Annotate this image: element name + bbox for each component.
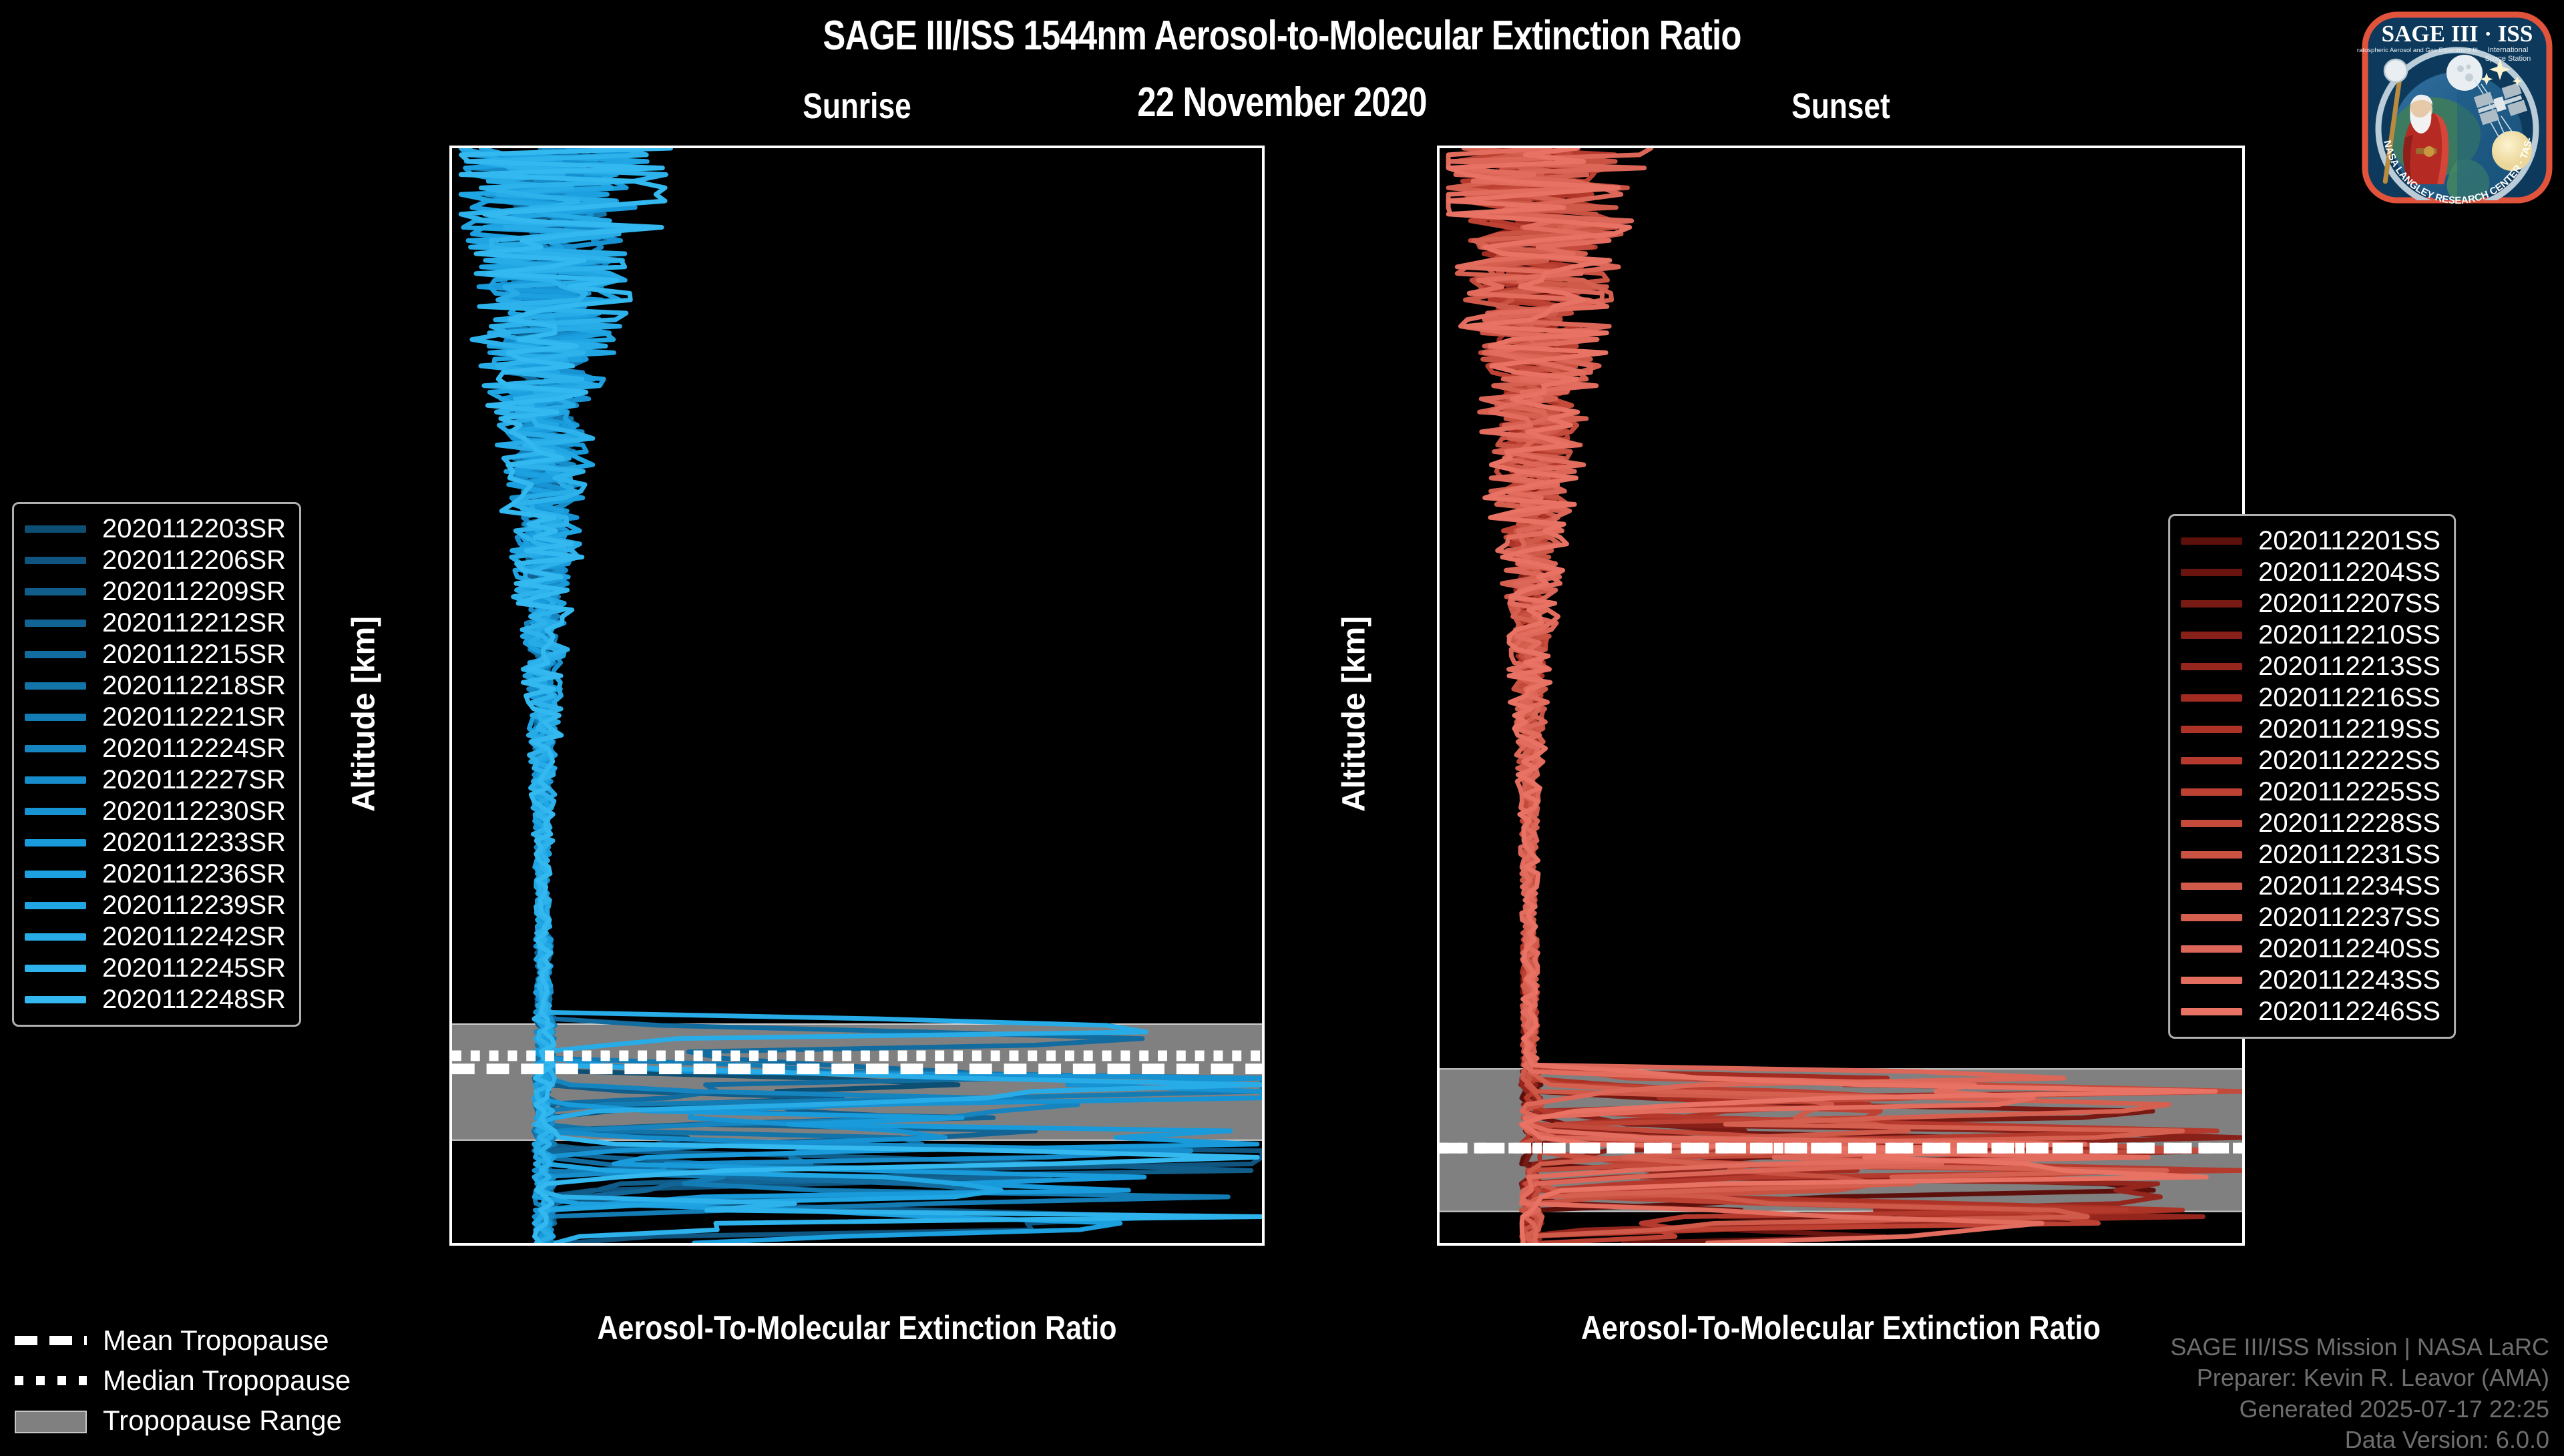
legend-color-swatch [2181, 945, 2242, 953]
y-axis-tick-mark [449, 280, 452, 282]
legend-label: 2020112204SS [2258, 557, 2440, 587]
x-axis-tick-mark [1113, 1243, 1116, 1246]
legend-label-median-tropopause: Median Tropopause [103, 1365, 351, 1397]
legend-row[interactable]: 2020112207SS [2181, 588, 2440, 620]
legend-color-swatch [2181, 883, 2242, 890]
legend-label: 2020112248SR [102, 985, 286, 1015]
legend-row[interactable]: 2020112221SR [25, 702, 286, 733]
filled-band-icon [15, 1413, 87, 1428]
legend-tropopause[interactable]: Mean Tropopause Median Tropopause Tropop… [15, 1320, 351, 1441]
legend-label: 2020112212SR [102, 608, 286, 638]
legend-row[interactable]: 2020112248SR [25, 984, 286, 1015]
legend-color-swatch [25, 902, 86, 909]
legend-color-swatch [25, 682, 86, 690]
legend-row[interactable]: 2020112225SS [2181, 776, 2440, 808]
y-axis-label-sunrise: Altitude [km] [346, 581, 383, 848]
legend-row[interactable]: 2020112215SR [25, 639, 286, 670]
legend-color-swatch [25, 620, 86, 627]
legend-label: 2020112231SS [2258, 840, 2440, 870]
legend-row[interactable]: 2020112234SS [2181, 871, 2440, 902]
y-axis-tick-mark [1437, 810, 1440, 812]
legend-color-swatch [2181, 820, 2242, 827]
legend-color-swatch [2181, 977, 2242, 984]
panel-title-sunset: Sunset [1510, 85, 2172, 127]
y-axis-tick-mark [1437, 942, 1440, 945]
legend-label: 2020112224SR [102, 734, 286, 764]
legend-row[interactable]: 2020112239SR [25, 890, 286, 921]
legend-label: 2020112213SS [2258, 652, 2440, 682]
legend-color-swatch [25, 525, 86, 533]
legend-row-median-tropopause[interactable]: Median Tropopause [15, 1361, 351, 1401]
legend-color-swatch [2181, 1008, 2242, 1015]
legend-row[interactable]: 2020112224SR [25, 733, 286, 764]
profile-lines-sunset [1440, 148, 2242, 1243]
sage-iii-iss-mission-patch-logo: SAGE III · ISS Stratospheric Aerosol and… [2357, 5, 2557, 206]
legend-label: 2020112221SR [102, 702, 286, 732]
legend-label: 2020112201SS [2258, 526, 2440, 556]
dotted-line-icon [15, 1373, 87, 1388]
legend-label: 2020112222SS [2258, 746, 2440, 776]
legend-label: 2020112216SS [2258, 683, 2440, 713]
legend-row[interactable]: 2020112203SR [25, 513, 286, 545]
y-axis-tick-mark [449, 677, 452, 680]
logo-title: SAGE III · ISS [2382, 21, 2533, 47]
plot-area-sunset[interactable]: 101520253035404550020406080100 [1437, 146, 2245, 1246]
legend-label-tropopause-range: Tropopause Range [103, 1405, 342, 1437]
y-axis-tick-mark [449, 810, 452, 812]
legend-color-swatch [2181, 632, 2242, 639]
x-axis-tick-mark [524, 1243, 527, 1246]
legend-row[interactable]: 2020112237SS [2181, 902, 2440, 933]
legend-label: 2020112233SR [102, 828, 286, 858]
legend-color-swatch [2181, 663, 2242, 670]
legend-color-swatch [25, 776, 86, 784]
y-axis-label-sunset: Altitude [km] [1336, 581, 1373, 848]
legend-label: 2020112246SS [2258, 997, 2440, 1027]
legend-row[interactable]: 2020112236SR [25, 859, 286, 890]
credits-line-mission: SAGE III/ISS Mission | NASA LaRC [2170, 1332, 2549, 1363]
legend-label: 2020112218SR [102, 671, 286, 701]
credits-line-generated: Generated 2025-07-17 22:25 [2170, 1394, 2549, 1425]
legend-row[interactable]: 2020112243SS [2181, 965, 2440, 996]
y-axis-tick-mark [1437, 677, 1440, 680]
legend-row[interactable]: 2020112227SR [25, 764, 286, 796]
x-axis-tick-mark [1657, 1243, 1660, 1246]
legend-label: 2020112225SS [2258, 777, 2440, 807]
legend-sunset[interactable]: 2020112201SS2020112204SS2020112207SS2020… [2168, 514, 2456, 1039]
x-axis-tick-mark [966, 1243, 969, 1246]
legend-sunrise[interactable]: 2020112203SR2020112206SR2020112209SR2020… [12, 502, 301, 1027]
y-axis-tick-mark [1437, 1207, 1440, 1210]
y-axis-tick-mark [449, 942, 452, 945]
y-axis-tick-mark [449, 147, 452, 150]
legend-label: 2020112227SR [102, 765, 286, 795]
legend-label: 2020112209SR [102, 577, 286, 607]
legend-row[interactable]: 2020112230SR [25, 796, 286, 827]
x-axis-tick-mark [819, 1243, 821, 1246]
legend-row[interactable]: 2020112218SR [25, 670, 286, 702]
y-axis-tick-mark [1437, 545, 1440, 547]
legend-label: 2020112239SR [102, 891, 286, 921]
legend-color-swatch [25, 839, 86, 846]
y-axis-tick-mark [1437, 412, 1440, 415]
legend-label: 2020112240SS [2258, 934, 2440, 964]
x-axis-tick-mark [1261, 1243, 1263, 1246]
legend-row-mean-tropopause[interactable]: Mean Tropopause [15, 1320, 351, 1361]
legend-color-swatch [2181, 726, 2242, 733]
y-axis-tick-mark [1437, 147, 1440, 150]
x-axis-tick-mark [1949, 1243, 1952, 1246]
plot-inner-sunset [1440, 148, 2242, 1243]
legend-color-swatch [2181, 851, 2242, 859]
dashed-line-icon [15, 1333, 87, 1348]
x-axis-label-sunset: Aerosol-To-Molecular Extinction Ratio [1494, 1308, 2189, 1347]
legend-row[interactable]: 2020112212SR [25, 608, 286, 639]
legend-color-swatch [2181, 600, 2242, 608]
legend-color-swatch [2181, 537, 2242, 545]
x-axis-tick-mark [2241, 1243, 2243, 1246]
legend-label: 2020112210SS [2258, 620, 2440, 650]
legend-row[interactable]: 2020112240SS [2181, 933, 2440, 965]
legend-label: 2020112234SS [2258, 871, 2440, 901]
legend-label: 2020112228SS [2258, 808, 2440, 838]
credits-line-data-version: Data Version: 6.0.0 [2170, 1425, 2549, 1455]
x-axis-tick-mark [1511, 1243, 1514, 1246]
y-axis-tick-mark [1437, 1075, 1440, 1077]
legend-color-swatch [25, 714, 86, 721]
legend-label: 2020112243SS [2258, 965, 2440, 995]
logo-subtitle-left: Stratospheric Aerosol and Gas Experiment… [2357, 47, 2478, 54]
legend-row[interactable]: 2020112206SR [25, 545, 286, 576]
legend-color-swatch [25, 588, 86, 595]
legend-label: 2020112237SS [2258, 903, 2440, 933]
legend-row[interactable]: 2020112209SR [25, 576, 286, 608]
legend-label: 2020112245SR [102, 953, 286, 983]
legend-row[interactable]: 2020112246SS [2181, 996, 2440, 1027]
legend-label: 2020112236SR [102, 859, 286, 889]
legend-row[interactable]: 2020112216SS [2181, 682, 2440, 714]
legend-color-swatch [25, 871, 86, 878]
mission-patch-icon: SAGE III · ISS Stratospheric Aerosol and… [2357, 5, 2557, 206]
legend-color-swatch [2181, 788, 2242, 796]
chart-title: SAGE III/ISS 1544nm Aerosol-to-Molecular… [231, 12, 2334, 59]
plot-area-sunrise[interactable]: 101520253035404550020406080100 [449, 146, 1265, 1246]
y-axis-tick-mark [449, 1075, 452, 1077]
profile-lines-sunrise [452, 148, 1262, 1243]
x-axis-tick-mark [2095, 1243, 2097, 1246]
legend-label: 2020112219SS [2258, 714, 2440, 744]
x-axis-label-sunrise: Aerosol-To-Molecular Extinction Ratio [506, 1308, 1207, 1347]
y-axis-tick-mark [449, 545, 452, 547]
x-axis-tick-mark [1803, 1243, 1805, 1246]
legend-color-swatch [25, 745, 86, 752]
legend-label-mean-tropopause: Mean Tropopause [103, 1324, 329, 1357]
legend-label: 2020112242SR [102, 922, 286, 952]
x-axis-tick-mark [672, 1243, 674, 1246]
legend-row[interactable]: 2020112213SS [2181, 651, 2440, 682]
legend-color-swatch [25, 557, 86, 564]
legend-color-swatch [25, 651, 86, 658]
logo-subtitle-right-line2: Space Station [2485, 55, 2531, 63]
legend-row[interactable]: 2020112222SS [2181, 745, 2440, 776]
legend-label: 2020112230SR [102, 796, 286, 826]
legend-row[interactable]: 2020112231SS [2181, 839, 2440, 871]
legend-row[interactable]: 2020112204SS [2181, 557, 2440, 588]
logo-subtitle-right-line1: International [2488, 46, 2529, 54]
legend-row[interactable]: 2020112242SR [25, 921, 286, 953]
y-axis-tick-mark [449, 1207, 452, 1210]
legend-color-swatch [25, 996, 86, 1003]
legend-row[interactable]: 2020112245SR [25, 953, 286, 984]
legend-row[interactable]: 2020112201SS [2181, 525, 2440, 557]
legend-label: 2020112206SR [102, 545, 286, 575]
legend-color-swatch [2181, 914, 2242, 921]
legend-color-swatch [2181, 757, 2242, 764]
y-axis-tick-mark [1437, 280, 1440, 282]
legend-row[interactable]: 2020112210SS [2181, 620, 2440, 651]
legend-color-swatch [2181, 694, 2242, 702]
legend-label: 2020112215SR [102, 640, 286, 670]
plot-inner-sunrise [452, 148, 1262, 1243]
legend-label: 2020112207SS [2258, 589, 2440, 619]
legend-row[interactable]: 2020112228SS [2181, 808, 2440, 839]
legend-color-swatch [25, 808, 86, 815]
legend-color-swatch [25, 965, 86, 972]
legend-row-tropopause-range[interactable]: Tropopause Range [15, 1401, 351, 1441]
y-axis-tick-mark [449, 412, 452, 415]
legend-row[interactable]: 2020112219SS [2181, 714, 2440, 745]
legend-color-swatch [25, 933, 86, 941]
panel-title-sunrise: Sunrise [523, 85, 1191, 127]
legend-color-swatch [2181, 569, 2242, 576]
credits-line-preparer: Preparer: Kevin R. Leavor (AMA) [2170, 1363, 2549, 1393]
legend-row[interactable]: 2020112233SR [25, 827, 286, 859]
legend-label: 2020112203SR [102, 514, 286, 544]
credits-block: SAGE III/ISS Mission | NASA LaRC Prepare… [2170, 1332, 2549, 1456]
